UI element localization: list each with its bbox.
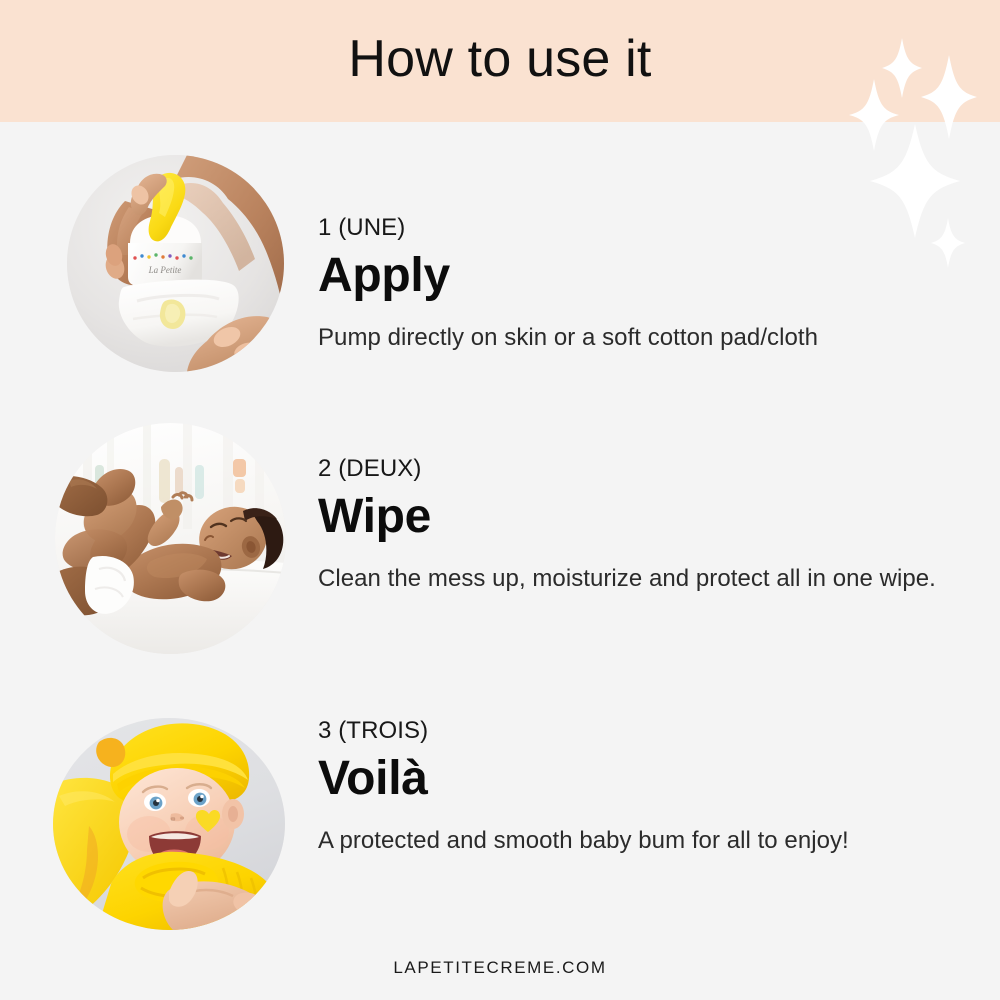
step-2-heading: Wipe [318,489,963,546]
photo-baby-being-wiped-on-changing-table [55,423,286,654]
step-2-eyebrow: 2 (DEUX) [318,456,963,482]
footer-website-url: LAPETITECREME.COM [393,958,606,977]
page-header: How to use it [0,0,1000,122]
step-1-heading: Apply [318,248,963,305]
page-title: How to use it [348,33,651,85]
photo-hand-pumping-bottle-onto-cotton-pad: La Petite [67,155,284,372]
step-2-description: Clean the mess up, moisturize and protec… [318,562,943,596]
step-3-description: A protected and smooth baby bum for all … [318,824,978,858]
step-1-description: Pump directly on skin or a soft cotton p… [318,321,963,355]
step-2-text-block: 2 (DEUX) Wipe Clean the mess up, moistur… [318,456,963,596]
step-1-text-block: 1 (UNE) Apply Pump directly on skin or a… [318,215,963,355]
step-3-eyebrow: 3 (TROIS) [318,718,963,744]
step-3-text-block: 3 (TROIS) Voilà A protected and smooth b… [318,718,963,858]
photo-smiling-baby-in-yellow-outfit [53,718,285,930]
step-1-eyebrow: 1 (UNE) [318,215,963,241]
svg-text:La Petite: La Petite [148,265,182,275]
step-3-heading: Voilà [318,751,963,808]
page-footer: LAPETITECREME.COM [0,958,1000,978]
